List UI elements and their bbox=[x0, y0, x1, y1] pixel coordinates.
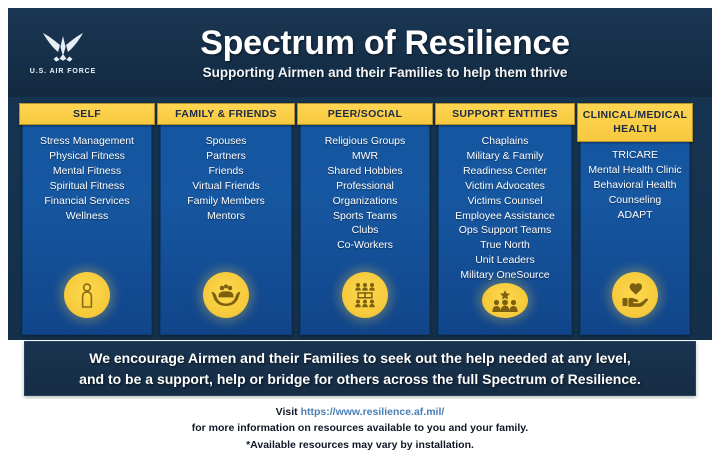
list-item: Ops Support Teams bbox=[442, 223, 568, 238]
title-block: Spectrum of Resilience Supporting Airmen… bbox=[118, 26, 712, 80]
list-item: True North bbox=[442, 238, 568, 253]
list-item: Behavioral Health bbox=[584, 178, 686, 193]
column-self[interactable]: SELF Stress Management Physical Fitness … bbox=[22, 103, 152, 335]
page-subtitle: Supporting Airmen and their Families to … bbox=[118, 65, 652, 80]
column-clinical-medical-health[interactable]: CLINICAL/MEDICAL HEALTH TRICARE Mental H… bbox=[580, 103, 690, 335]
list-item: Stress Management bbox=[26, 134, 148, 149]
list-item: Spiritual Fitness bbox=[26, 179, 148, 194]
air-force-wings-icon bbox=[39, 30, 87, 66]
list-item: Counseling bbox=[584, 193, 686, 208]
column-header-family-friends: FAMILY & FRIENDS bbox=[157, 103, 295, 125]
list-item: Mental Health Clinic bbox=[584, 163, 686, 178]
column-header-support-entities: SUPPORT ENTITIES bbox=[435, 103, 575, 125]
column-items-peer-social: Religious Groups MWR Shared Hobbies Prof… bbox=[301, 134, 429, 272]
columns-container: SELF Stress Management Physical Fitness … bbox=[22, 103, 690, 335]
list-item: Readiness Center bbox=[442, 164, 568, 179]
resilience-website-link[interactable]: https://www.resilience.af.mil/ bbox=[301, 406, 445, 418]
column-header-peer-social: PEER/SOCIAL bbox=[297, 103, 433, 125]
list-item: Mental Fitness bbox=[26, 164, 148, 179]
hands-holding-family-icon bbox=[203, 272, 249, 318]
column-support-entities[interactable]: SUPPORT ENTITIES Chaplains Military & Fa… bbox=[438, 103, 572, 335]
list-item: Religious Groups bbox=[304, 134, 426, 149]
infographic-poster: U.S. AIR FORCE Spectrum of Resilience Su… bbox=[0, 0, 720, 457]
list-item: Wellness bbox=[26, 209, 148, 224]
column-family-friends[interactable]: FAMILY & FRIENDS Spouses Partners Friend… bbox=[160, 103, 292, 335]
page-title: Spectrum of Resilience bbox=[118, 26, 652, 60]
cta-line-2: and to be a support, help or bridge for … bbox=[79, 369, 641, 390]
list-item: Victims Counsel bbox=[442, 194, 568, 209]
column-items-self: Stress Management Physical Fitness Menta… bbox=[23, 134, 151, 272]
list-item: Victim Advocates bbox=[442, 179, 568, 194]
group-with-star-icon bbox=[482, 283, 528, 318]
hand-holding-heart-icon bbox=[612, 272, 658, 318]
column-peer-social[interactable]: PEER/SOCIAL Religious Groups MWR Shared … bbox=[300, 103, 430, 335]
list-item: Chaplains bbox=[442, 134, 568, 149]
list-item: Partners bbox=[164, 149, 288, 164]
list-item: Friends bbox=[164, 164, 288, 179]
people-network-icon bbox=[342, 272, 388, 318]
list-item: Clubs bbox=[304, 223, 426, 238]
footer-line-3: *Available resources may vary by install… bbox=[246, 437, 474, 453]
list-item: Military OneSource bbox=[442, 268, 568, 283]
list-item: Physical Fitness bbox=[26, 149, 148, 164]
air-force-logo-label: U.S. AIR FORCE bbox=[30, 68, 96, 75]
footer-visit-line: Visit https://www.resilience.af.mil/ bbox=[276, 404, 445, 420]
footer: Visit https://www.resilience.af.mil/ for… bbox=[0, 399, 720, 457]
list-item: Military & Family bbox=[442, 149, 568, 164]
list-item: MWR bbox=[304, 149, 426, 164]
cta-line-1: We encourage Airmen and their Families t… bbox=[89, 348, 631, 369]
column-items-clinical-medical-health: TRICARE Mental Health Clinic Behavioral … bbox=[581, 148, 689, 272]
column-header-self: SELF bbox=[19, 103, 155, 125]
header: U.S. AIR FORCE Spectrum of Resilience Su… bbox=[8, 8, 712, 97]
list-item: Spouses bbox=[164, 134, 288, 149]
list-item: Sports Teams bbox=[304, 209, 426, 224]
list-item: ADAPT bbox=[584, 208, 686, 223]
call-to-action-banner: We encourage Airmen and their Families t… bbox=[24, 341, 696, 396]
single-person-icon bbox=[64, 272, 110, 318]
list-item: Family Members bbox=[164, 194, 288, 209]
list-item: Co-Workers bbox=[304, 238, 426, 253]
list-item: Organizations bbox=[304, 194, 426, 209]
list-item: Unit Leaders bbox=[442, 253, 568, 268]
list-item: Shared Hobbies bbox=[304, 164, 426, 179]
list-item: Financial Services bbox=[26, 194, 148, 209]
list-item: Employee Assistance bbox=[442, 209, 568, 224]
column-items-support-entities: Chaplains Military & Family Readiness Ce… bbox=[439, 134, 571, 283]
list-item: TRICARE bbox=[584, 148, 686, 163]
footer-visit-label: Visit bbox=[276, 406, 298, 418]
column-items-family-friends: Spouses Partners Friends Virtual Friends… bbox=[161, 134, 291, 272]
list-item: Virtual Friends bbox=[164, 179, 288, 194]
list-item: Professional bbox=[304, 179, 426, 194]
list-item: Mentors bbox=[164, 209, 288, 224]
column-header-clinical-medical-health: CLINICAL/MEDICAL HEALTH bbox=[577, 103, 693, 142]
air-force-logo: U.S. AIR FORCE bbox=[8, 8, 118, 97]
footer-line-2: for more information on resources availa… bbox=[192, 420, 528, 436]
